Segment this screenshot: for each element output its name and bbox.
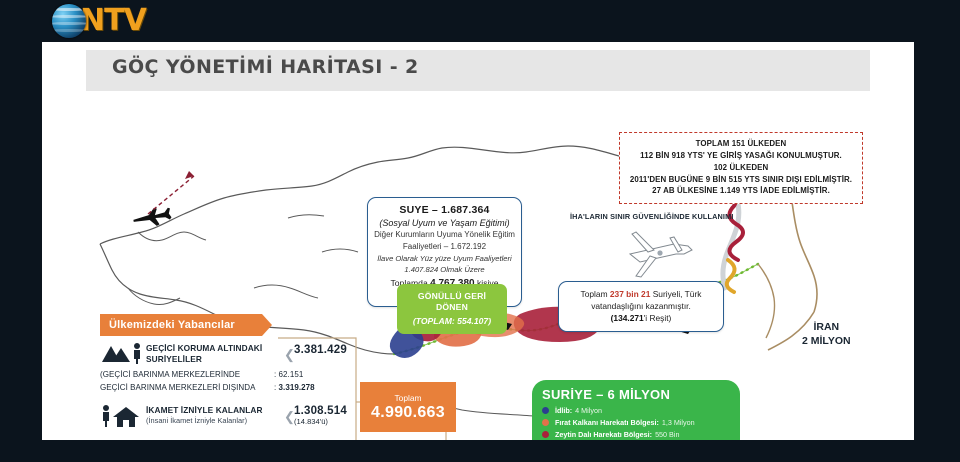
syria-legend-title: SURİYE – 6 MİLYON <box>542 387 730 402</box>
foreigners-total-label: Toplam <box>395 393 422 403</box>
stat-subrow-outside-centers: GEÇİCİ BARINMA MERKEZLERİ DIŞINDA <box>100 383 255 392</box>
stat-subrow-in-centers-label: (GEÇİCİ BARINMA MERKEZLERİNDE <box>100 370 240 379</box>
stat-subrow-in-centers: (GEÇİCİ BARINMA MERKEZLERİNDE <box>100 370 240 379</box>
iran-label: İRAN 2 MİLYON <box>802 320 851 348</box>
suye-line-2: Faaliyetleri – 1.672.192 <box>374 242 515 252</box>
suye-line-4: 1.407.824 Olmak Üzere <box>374 265 515 274</box>
citizenship-adult-value: (134.271 <box>611 313 644 323</box>
citizenship-adult-suffix: 'i Reşit) <box>644 313 672 323</box>
stat-value-residence-permit-number: 1.308.514 <box>294 405 347 417</box>
stat-value-temporary-protection: 3.381.429 <box>294 344 347 356</box>
entry-ban-line-3: 102 ÜLKEDEN <box>626 162 856 174</box>
map-canvas: TOPLAM 151 ÜLKEDEN 112 BİN 918 YTS' YE G… <box>42 92 914 440</box>
voluntary-return-line-2: DÖNEN <box>401 302 503 313</box>
stat-value-residence-permit: 1.308.514 (14.834'ü) <box>294 405 347 426</box>
foreigners-panel-header-label: Ülkemizdeki Yabancılar <box>109 319 235 331</box>
voluntary-return-total: (TOPLAM: 554.107) <box>401 316 503 326</box>
iran-country-name: İRAN <box>802 320 851 334</box>
citizenship-prefix: Toplam <box>581 289 610 299</box>
foreigners-panel-header: Ülkemizdeki Yabancılar <box>100 314 262 336</box>
stat-name-line-1: GEÇİCİ KORUMA ALTINDAKİ <box>146 343 262 354</box>
page-title: GÖÇ YÖNETİMİ HARİTASI - 2 <box>112 56 419 78</box>
legend-label-idlib: İdlib: <box>555 406 572 415</box>
legend-dot-zeytin-dali <box>542 431 549 438</box>
broadcaster-band: NTV <box>0 0 960 42</box>
citizenship-highlight: 237 bin 21 <box>610 289 651 299</box>
legend-value-zeytin-dali: 550 Bin <box>655 430 679 439</box>
syria-legend-item-firat-kalkani: Fırat Kalkanı Harekatı Bölgesi: 1,3 Mily… <box>542 418 730 427</box>
suye-line-1: Diğer Kurumların Uyuma Yönelik Eğitim <box>374 230 515 240</box>
stat-subrow-outside-centers-value-wrap: : 3.319.278 <box>274 383 315 392</box>
ntv-wordmark: NTV <box>80 6 146 36</box>
voluntary-return-callout: GÖNÜLLÜ GERİ DÖNEN (TOPLAM: 554.107) <box>397 284 507 334</box>
stat-label-temporary-protection: GEÇİCİ KORUMA ALTINDAKİ SURİYELİLER <box>146 342 262 365</box>
stat-name-line-1: İKAMET İZNİYLE KALANLAR <box>146 405 263 416</box>
stat-subrow-outside-centers-label: GEÇİCİ BARINMA MERKEZLERİ DIŞINDA <box>100 383 255 392</box>
citizenship-line-2: vatandaşlığını kazanmıştır. <box>564 300 718 312</box>
syria-legend-box: SURİYE – 6 MİLYON İdlib: 4 Milyon Fırat … <box>532 380 740 440</box>
citizenship-line-3: (134.271'i Reşit) <box>564 312 718 324</box>
syria-legend-item-idlib: İdlib: 4 Milyon <box>542 406 730 415</box>
ntv-globe-icon <box>52 4 86 38</box>
iran-population-value: 2 MİLYON <box>802 334 851 348</box>
legend-value-idlib: 4 Milyon <box>575 406 602 415</box>
foreigners-total-value: 4.990.663 <box>371 404 445 422</box>
entry-ban-callout: TOPLAM 151 ÜLKEDEN 112 BİN 918 YTS' YE G… <box>619 132 863 204</box>
legend-dot-idlib <box>542 407 549 414</box>
screenshot-root: NTV GÖÇ YÖNETİMİ HARİTASI - 2 <box>0 0 960 462</box>
entry-ban-line-5: 27 AB ÜLKESİNE 1.149 YTS İADE EDİLMİŞTİR… <box>626 185 856 197</box>
stat-name-line-2: SURİYELİLER <box>146 354 262 365</box>
entry-ban-line-2: 112 BİN 918 YTS' YE GİRİŞ YASAĞI KONULMU… <box>626 150 856 162</box>
stat-value-residence-permit-note: (14.834'ü) <box>294 417 347 426</box>
citizenship-line-1: Toplam 237 bin 21 Suriyeli, Türk <box>564 288 718 300</box>
stat-row-residence-permit: İKAMET İZNİYLE KALANLAR (İnsani İkamet İ… <box>100 404 290 425</box>
legend-label-zeytin-dali: Zeytin Dalı Harekatı Bölgesi: <box>555 430 652 439</box>
slide: GÖÇ YÖNETİMİ HARİTASI - 2 <box>42 42 914 440</box>
entry-ban-line-1: TOPLAM 151 ÜLKEDEN <box>626 138 856 150</box>
suye-line-3: İlave Olarak Yüz yüze Uyum Faaliyetleri <box>374 254 515 263</box>
stat-name-line-2: (İnsani İkamet İzniyle Kalanlar) <box>146 416 263 426</box>
stat-subrow-in-centers-value-wrap: : 62.151 <box>274 370 303 379</box>
stat-subrow-outside-centers-value: 3.319.278 <box>279 383 315 392</box>
citizenship-callout: Toplam 237 bin 21 Suriyeli, Türk vatanda… <box>558 281 724 332</box>
voluntary-return-line-1: GÖNÜLLÜ GERİ <box>401 291 503 302</box>
legend-dot-firat-kalkani <box>542 419 549 426</box>
legend-label-firat-kalkani: Fırat Kalkanı Harekatı Bölgesi: <box>555 418 659 427</box>
stat-subrow-in-centers-value: 62.151 <box>279 370 304 379</box>
suye-title: SUYE – 1.687.364 <box>374 204 515 216</box>
suye-subtitle: (Sosyal Uyum ve Yaşam Eğitimi) <box>374 218 515 228</box>
foreigners-total-box: Toplam 4.990.663 <box>360 382 456 432</box>
ntv-logo: NTV <box>52 2 146 40</box>
stat-label-residence-permit: İKAMET İZNİYLE KALANLAR (İnsani İkamet İ… <box>146 404 263 425</box>
stat-row-temporary-protection: GEÇİCİ KORUMA ALTINDAKİ SURİYELİLER <box>100 342 290 365</box>
syria-legend-item-zeytin-dali: Zeytin Dalı Harekatı Bölgesi: 550 Bin <box>542 430 730 439</box>
legend-value-firat-kalkani: 1,3 Milyon <box>662 418 695 427</box>
citizenship-suffix: Suriyeli, Türk <box>650 289 701 299</box>
entry-ban-line-4: 2011'DEN BUGÜNE 9 BİN 515 YTS SINIR DIŞI… <box>626 174 856 186</box>
uav-usage-label: İHA'LARIN SINIR GÜVENLİĞİNDE KULLANIMI <box>570 212 734 221</box>
